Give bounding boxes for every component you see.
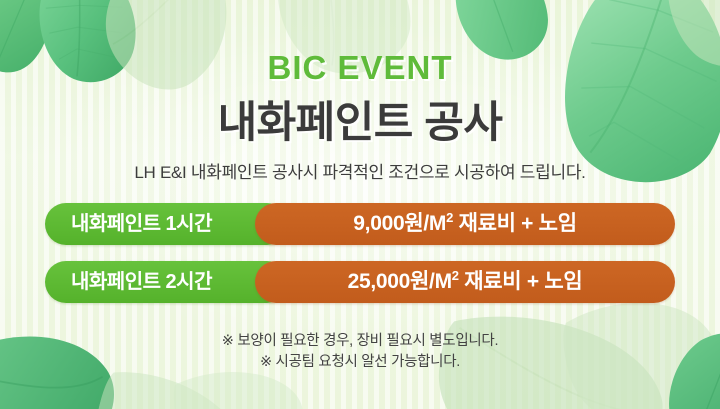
page-title: 내화페인트 공사 <box>0 88 720 150</box>
price-row-label-text: 내화페인트 1시간 <box>71 203 212 245</box>
footnote-line: ※ 보양이 필요한 경우, 장비 필요시 별도입니다. <box>0 331 720 352</box>
price-row-value-pill: 25,000원/M2 재료비 + 노임 <box>255 261 675 303</box>
promo-banner: BIC EVENT 내화페인트 공사 LH E&I 내화페인트 공사시 파격적인… <box>0 0 720 409</box>
price-suffix: 재료비 + 노임 <box>453 212 577 235</box>
price-row-value-text: 25,000원/M2 재료비 + 노임 <box>255 261 675 303</box>
event-eyebrow: BIC EVENT <box>0 49 720 87</box>
banner-content: BIC EVENT 내화페인트 공사 LH E&I 내화페인트 공사시 파격적인… <box>0 0 720 409</box>
price-row-list: 내화페인트 1시간 9,000원/M2 재료비 + 노임 내화페인트 2시간 2… <box>0 203 720 319</box>
price-row-value-text: 9,000원/M2 재료비 + 노임 <box>255 203 675 245</box>
footnote-list: ※ 보양이 필요한 경우, 장비 필요시 별도입니다. ※ 시공팀 요청시 알선… <box>0 331 720 373</box>
table-row: 내화페인트 1시간 9,000원/M2 재료비 + 노임 <box>0 203 720 245</box>
price-unit-superscript: 2 <box>452 268 459 283</box>
banner-subtitle: LH E&I 내화페인트 공사시 파격적인 조건으로 시공하여 드립니다. <box>0 158 720 183</box>
price-amount: 9,000원/M <box>353 212 446 235</box>
price-row-value-pill: 9,000원/M2 재료비 + 노임 <box>255 203 675 245</box>
price-row-label-text: 내화페인트 2시간 <box>71 261 212 303</box>
table-row: 내화페인트 2시간 25,000원/M2 재료비 + 노임 <box>0 261 720 303</box>
price-suffix: 재료비 + 노임 <box>459 270 583 293</box>
footnote-line: ※ 시공팀 요청시 알선 가능합니다. <box>0 352 720 373</box>
price-row-label-pill: 내화페인트 2시간 <box>45 261 288 303</box>
price-row-label-pill: 내화페인트 1시간 <box>45 203 288 245</box>
price-amount: 25,000원/M <box>348 270 452 293</box>
price-unit-superscript: 2 <box>446 210 453 225</box>
